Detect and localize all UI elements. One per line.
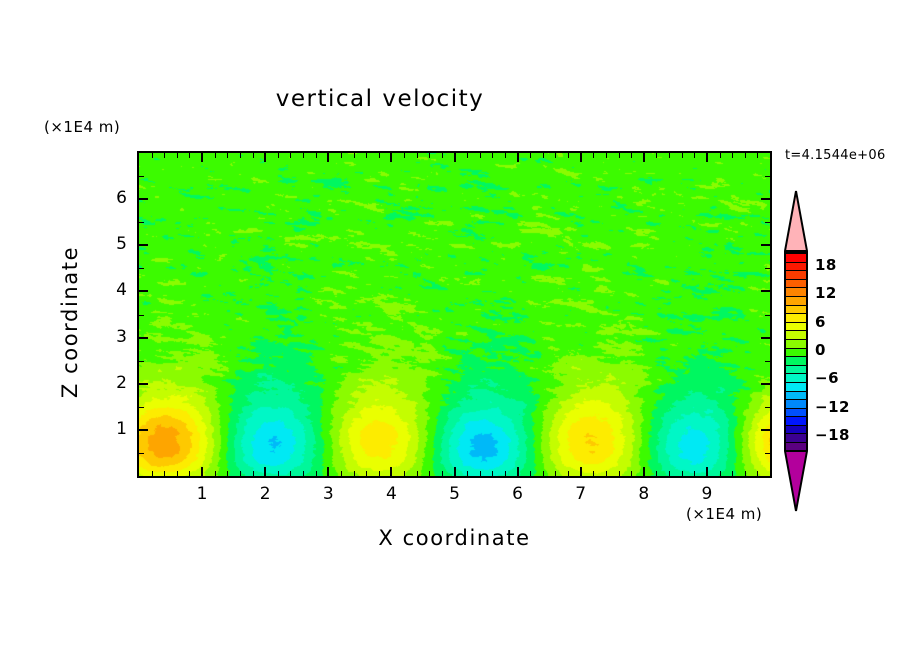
x-tick-minor-top (606, 153, 607, 158)
x-tick-major-top (580, 153, 582, 162)
y-tick-major-right (761, 290, 770, 292)
colorbar-band (786, 306, 806, 315)
x-tick-major-top (517, 153, 519, 162)
x-tick-minor (543, 471, 544, 476)
colorbar-band (786, 323, 806, 332)
x-tick-minor (480, 471, 481, 476)
colorbar-band (786, 417, 806, 426)
plot-area (137, 151, 772, 478)
x-tick-minor (656, 471, 657, 476)
x-tick-minor-top (543, 153, 544, 158)
x-tick-minor (341, 471, 342, 476)
x-tick-minor (404, 471, 405, 476)
x-tick-minor-top (177, 153, 178, 158)
y-tick-label: 4 (103, 280, 127, 300)
x-tick-minor (290, 471, 291, 476)
y-tick-label: 1 (103, 419, 127, 439)
x-tick-minor-top (354, 153, 355, 158)
colorbar-band (786, 314, 806, 323)
x-tick-minor (240, 471, 241, 476)
y-axis-title: Z coordinate (58, 192, 82, 452)
y-tick-label: 6 (103, 188, 127, 208)
x-tick-minor (177, 471, 178, 476)
x-tick-minor-top (366, 153, 367, 158)
y-tick-label: 3 (103, 327, 127, 347)
colorbar-tick-label: 6 (815, 313, 826, 331)
x-tick-major (706, 467, 708, 476)
x-tick-minor (593, 471, 594, 476)
x-axis-title: X coordinate (137, 526, 772, 550)
x-tick-minor (152, 471, 153, 476)
y-tick-minor-right (765, 407, 770, 408)
x-tick-minor (732, 471, 733, 476)
x-tick-minor (215, 471, 216, 476)
x-tick-minor-top (732, 153, 733, 158)
x-tick-minor (467, 471, 468, 476)
x-tick-minor (505, 471, 506, 476)
x-tick-minor (492, 471, 493, 476)
colorbar-tick-label: 12 (815, 284, 837, 302)
y-tick-major (139, 290, 148, 292)
colorbar-band (786, 288, 806, 297)
y-tick-label: 2 (103, 373, 127, 393)
x-tick-major-top (201, 153, 203, 162)
x-tick-minor (316, 471, 317, 476)
x-tick-label: 9 (692, 484, 722, 504)
x-tick-minor (606, 471, 607, 476)
x-tick-minor (253, 471, 254, 476)
x-tick-major (327, 467, 329, 476)
x-tick-minor (303, 471, 304, 476)
colorbar-band (786, 254, 806, 263)
x-tick-minor (568, 471, 569, 476)
colorbar-band (786, 349, 806, 358)
x-tick-major (643, 467, 645, 476)
x-tick-minor-top (189, 153, 190, 158)
x-tick-minor-top (720, 153, 721, 158)
colorbar-tick-label: −12 (815, 398, 850, 416)
y-tick-minor (139, 222, 144, 223)
x-tick-minor-top (253, 153, 254, 158)
x-tick-minor (429, 471, 430, 476)
y-tick-minor-right (765, 315, 770, 316)
y-tick-minor (139, 453, 144, 454)
colorbar-band (786, 357, 806, 366)
y-tick-major (139, 244, 148, 246)
x-tick-minor-top (379, 153, 380, 158)
y-tick-major-right (761, 429, 770, 431)
y-tick-major-right (761, 198, 770, 200)
x-tick-major (264, 467, 266, 476)
y-tick-major (139, 198, 148, 200)
colorbar-bands (784, 252, 808, 450)
x-tick-minor-top (341, 153, 342, 158)
x-tick-minor-top (240, 153, 241, 158)
colorbar-band (786, 374, 806, 383)
x-tick-minor (669, 471, 670, 476)
x-axis-unit-label: (×1E4 m) (686, 505, 762, 523)
x-tick-minor-top (631, 153, 632, 158)
colorbar-band (786, 400, 806, 409)
x-tick-label: 5 (440, 484, 470, 504)
colorbar-tick-label: −6 (815, 369, 839, 387)
contour-field (139, 153, 770, 476)
y-tick-minor (139, 407, 144, 408)
x-tick-minor (354, 471, 355, 476)
x-tick-minor (619, 471, 620, 476)
colorbar-band (786, 409, 806, 418)
x-tick-major (454, 467, 456, 476)
colorbar-tick-label: 18 (815, 256, 837, 274)
y-tick-major-right (761, 244, 770, 246)
x-tick-minor-top (555, 153, 556, 158)
x-tick-minor-top (417, 153, 418, 158)
x-tick-major-top (390, 153, 392, 162)
x-tick-minor (631, 471, 632, 476)
y-tick-minor-right (765, 361, 770, 362)
x-tick-major (390, 467, 392, 476)
x-tick-minor (442, 471, 443, 476)
x-tick-major-top (706, 153, 708, 162)
x-tick-minor-top (682, 153, 683, 158)
y-tick-major (139, 383, 148, 385)
x-tick-minor-top (316, 153, 317, 158)
x-tick-major-top (643, 153, 645, 162)
x-tick-label: 8 (629, 484, 659, 504)
x-tick-minor-top (164, 153, 165, 158)
x-tick-minor-top (215, 153, 216, 158)
x-tick-minor-top (290, 153, 291, 158)
y-tick-minor (139, 268, 144, 269)
timestamp-annotation: t=4.1544e+06 (785, 148, 886, 163)
colorbar-under-cap (784, 450, 808, 512)
x-tick-minor-top (530, 153, 531, 158)
page-title: vertical velocity (0, 86, 760, 112)
y-tick-major-right (761, 383, 770, 385)
figure-canvas: vertical velocity (×1E4 m) t=4.1544e+06 … (0, 0, 904, 654)
colorbar-band (786, 280, 806, 289)
x-tick-minor-top (278, 153, 279, 158)
x-tick-minor-top (442, 153, 443, 158)
x-tick-major-top (264, 153, 266, 162)
x-tick-minor-top (404, 153, 405, 158)
y-tick-minor-right (765, 268, 770, 269)
x-tick-minor-top (505, 153, 506, 158)
x-tick-minor (379, 471, 380, 476)
x-tick-label: 6 (503, 484, 533, 504)
x-tick-minor (366, 471, 367, 476)
colorbar-tick-label: −18 (815, 426, 850, 444)
colorbar-band (786, 426, 806, 435)
y-axis-unit-label: (×1E4 m) (44, 118, 120, 136)
y-tick-minor (139, 361, 144, 362)
colorbar-band (786, 271, 806, 280)
x-tick-minor (278, 471, 279, 476)
colorbar-band (786, 331, 806, 340)
colorbar-tick-label: 0 (815, 341, 826, 359)
x-tick-minor-top (467, 153, 468, 158)
y-tick-minor (139, 176, 144, 177)
x-tick-minor (189, 471, 190, 476)
x-tick-label: 1 (187, 484, 217, 504)
colorbar: 181260−6−12−18 (779, 190, 819, 512)
x-tick-label: 3 (313, 484, 343, 504)
y-tick-minor (139, 315, 144, 316)
colorbar-band (786, 297, 806, 306)
colorbar-over-cap (784, 190, 808, 252)
y-tick-major-right (761, 337, 770, 339)
x-tick-minor-top (669, 153, 670, 158)
colorbar-band (786, 366, 806, 375)
x-tick-minor (682, 471, 683, 476)
x-tick-minor (720, 471, 721, 476)
colorbar-band (786, 383, 806, 392)
x-tick-minor-top (152, 153, 153, 158)
x-tick-minor-top (492, 153, 493, 158)
y-tick-label: 5 (103, 234, 127, 254)
x-tick-major (201, 467, 203, 476)
x-tick-minor (164, 471, 165, 476)
y-tick-minor-right (765, 222, 770, 223)
x-tick-minor-top (593, 153, 594, 158)
x-tick-minor-top (656, 153, 657, 158)
x-tick-minor (757, 471, 758, 476)
y-tick-major (139, 429, 148, 431)
x-tick-minor (694, 471, 695, 476)
x-tick-minor-top (429, 153, 430, 158)
x-tick-minor-top (480, 153, 481, 158)
x-tick-minor-top (694, 153, 695, 158)
x-tick-minor-top (303, 153, 304, 158)
x-tick-major-top (327, 153, 329, 162)
colorbar-band (786, 263, 806, 272)
y-tick-minor-right (765, 453, 770, 454)
y-tick-major (139, 337, 148, 339)
x-tick-minor (555, 471, 556, 476)
x-tick-minor-top (568, 153, 569, 158)
x-tick-minor (417, 471, 418, 476)
x-tick-minor-top (227, 153, 228, 158)
x-tick-minor-top (619, 153, 620, 158)
x-tick-major (580, 467, 582, 476)
colorbar-band (786, 340, 806, 349)
x-tick-minor-top (757, 153, 758, 158)
y-tick-minor-right (765, 176, 770, 177)
x-tick-minor-top (745, 153, 746, 158)
colorbar-band (786, 434, 806, 443)
x-tick-label: 7 (566, 484, 596, 504)
colorbar-band (786, 392, 806, 401)
x-tick-label: 4 (376, 484, 406, 504)
x-tick-label: 2 (250, 484, 280, 504)
x-tick-minor (745, 471, 746, 476)
x-tick-minor (530, 471, 531, 476)
x-tick-major (517, 467, 519, 476)
x-tick-minor (227, 471, 228, 476)
x-tick-major-top (454, 153, 456, 162)
